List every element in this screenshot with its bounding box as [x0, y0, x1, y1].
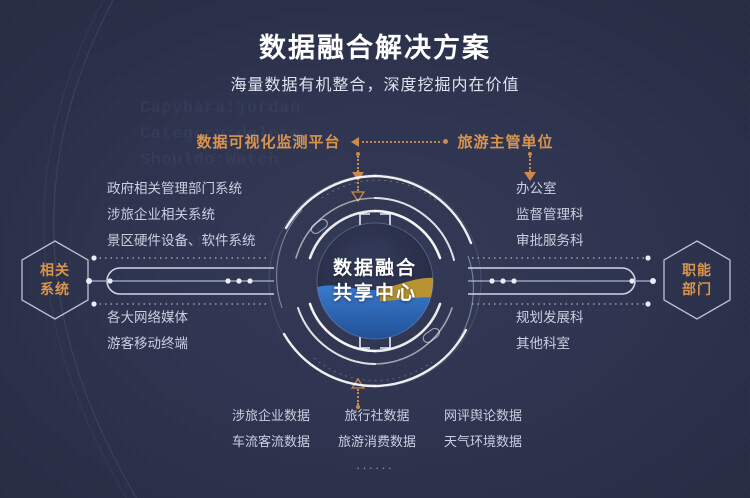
list-item: 审批服务科 — [516, 228, 584, 254]
dotted-left-arrow-icon — [351, 137, 448, 147]
label-visualization-platform: 数据可视化监测平台 — [196, 131, 340, 152]
list-item: 监督管理科 — [516, 202, 584, 228]
hexagon-right-line2: 部门 — [682, 280, 712, 299]
page-title: 数据融合解决方案 — [0, 26, 750, 65]
right-departments-top-list: 办公室 监督管理科 审批服务科 — [516, 176, 584, 254]
hexagon-right-line1: 职能 — [682, 261, 712, 280]
bottom-ellipsis: ······ — [0, 460, 750, 475]
list-item: 景区硬件设备、软件系统 — [107, 228, 256, 254]
list-item: 旅游消费数据 — [328, 431, 426, 450]
list-item: 车流客流数据 — [222, 431, 320, 450]
bottom-data-grid: 涉旅企业数据 旅行社数据 网评舆论数据 车流客流数据 旅游消费数据 天气环境数据 — [222, 405, 532, 450]
list-item: 规划发展科 — [516, 305, 584, 331]
top-label-row: 数据可视化监测平台 旅游主管单位 — [0, 131, 750, 152]
connector-left — [84, 252, 274, 310]
core-line1: 数据融合 — [333, 256, 417, 281]
core-label: 数据融合 共享中心 — [262, 168, 488, 394]
data-fusion-core: 数据融合 共享中心 — [262, 168, 488, 394]
list-item: 各大网络媒体 — [107, 305, 188, 331]
hexagon-left-line2: 系统 — [40, 280, 70, 299]
list-item: 政府相关管理部门系统 — [107, 176, 256, 202]
list-item: 旅行社数据 — [328, 405, 426, 424]
core-line2: 共享中心 — [333, 281, 417, 306]
list-item: 天气环境数据 — [434, 431, 532, 450]
label-tourism-authority: 旅游主管单位 — [458, 131, 554, 152]
left-sources-top-list: 政府相关管理部门系统 涉旅企业相关系统 景区硬件设备、软件系统 — [107, 176, 256, 254]
hexagon-functional-departments[interactable]: 职能 部门 — [660, 238, 734, 322]
list-item: 涉旅企业数据 — [222, 405, 320, 424]
hexagon-left-line1: 相关 — [40, 261, 70, 280]
list-item: 涉旅企业相关系统 — [107, 202, 256, 228]
list-item: 其他科室 — [516, 331, 584, 357]
list-item: 办公室 — [516, 176, 584, 202]
hexagon-related-systems[interactable]: 相关 系统 — [18, 238, 92, 322]
list-item: 网评舆论数据 — [434, 405, 532, 424]
infographic-canvas: Capybara:jordan Category:delete Shouldo:… — [0, 0, 750, 498]
page-subtitle: 海量数据有机整合，深度挖掘内在价值 — [0, 71, 750, 95]
left-sources-bottom-list: 各大网络媒体 游客移动终端 — [107, 305, 188, 357]
right-departments-bottom-list: 规划发展科 其他科室 — [516, 305, 584, 357]
list-item: 游客移动终端 — [107, 331, 188, 357]
connector-right — [468, 252, 658, 310]
